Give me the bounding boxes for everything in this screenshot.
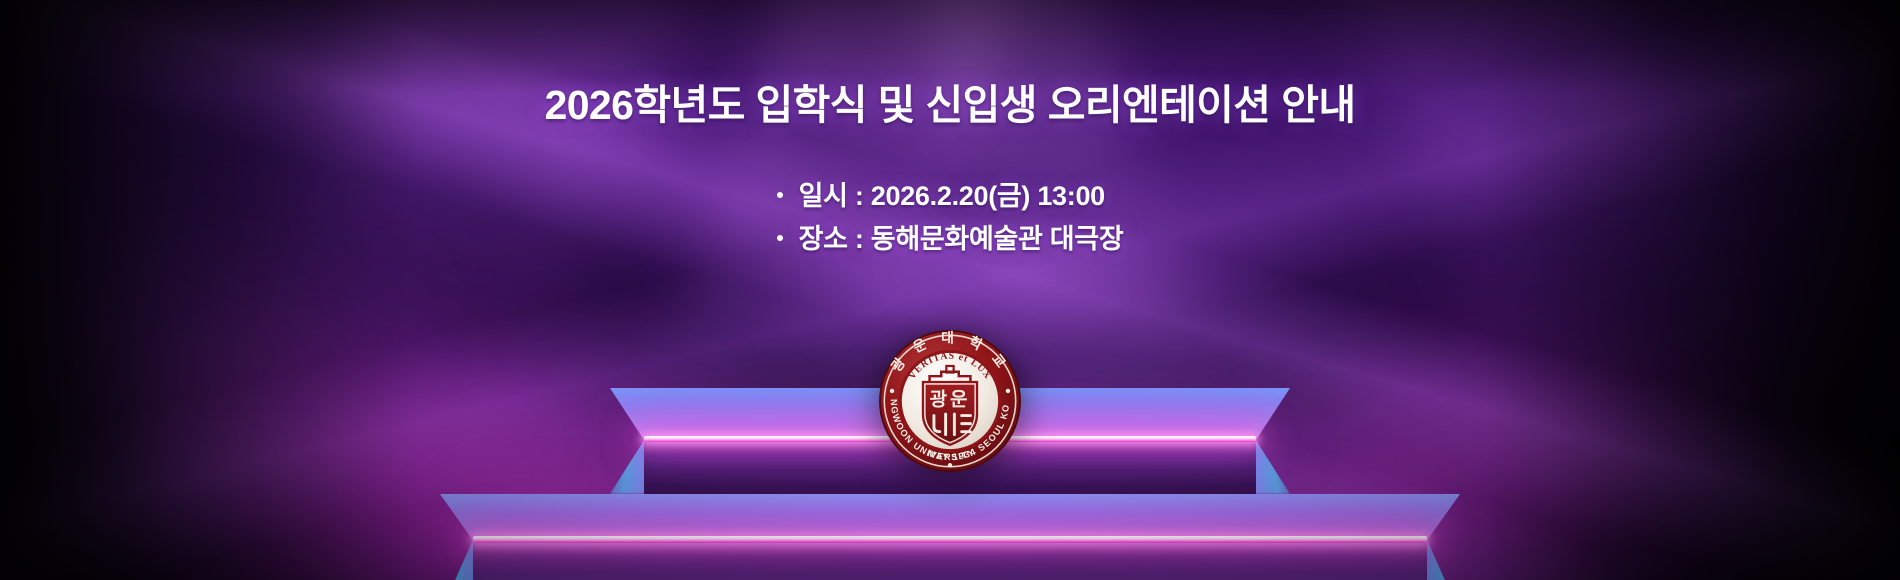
lower-slab-neon-edge (473, 536, 1428, 543)
lower-slab-front-glow (473, 543, 1428, 573)
kwangwoon-university-emblem: 광 운 대 학 교 KWANGWOON UNIVERSITY MAY 1934 … (877, 328, 1023, 474)
event-date-text: 일시 : 2026.2.20(금) 13:00 (799, 175, 1105, 218)
banner-copy: 2026학년도 입학식 및 신입생 오리엔테이션 안내 일시 : 2026.2.… (0, 0, 1900, 260)
lower-podium-slab (440, 494, 1460, 580)
list-item: 일시 : 2026.2.20(금) 13:00 (777, 175, 1124, 218)
page-title: 2026학년도 입학식 및 신입생 오리엔테이션 안내 (0, 0, 1900, 129)
bullet-dot-icon (777, 235, 783, 241)
orientation-banner: 광 운 대 학 교 KWANGWOON UNIVERSITY MAY 1934 … (0, 0, 1900, 580)
lower-slab-sheen (440, 494, 1460, 540)
svg-text:광운: 광운 (930, 388, 971, 410)
event-venue-text: 장소 : 동해문화예술관 대극장 (799, 218, 1124, 261)
list-item: 장소 : 동해문화예술관 대극장 (777, 218, 1124, 261)
bullet-dot-icon (777, 192, 783, 198)
event-details-list: 일시 : 2026.2.20(금) 13:00 장소 : 동해문화예술관 대극장 (777, 175, 1124, 260)
